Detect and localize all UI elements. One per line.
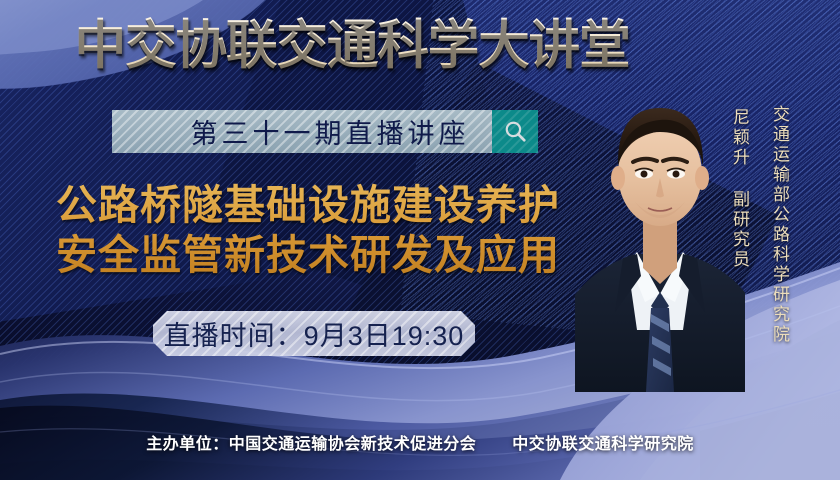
broadcast-time-label: 直播时间：9月3日19:30: [164, 314, 465, 353]
speaker-name-title: 尼颖升 副研究员: [727, 108, 752, 270]
live-stream-poster: 中交协联交通科学大讲堂 第三十一期直播讲座 公路桥隧基础设施建设养护 安全监管新…: [0, 0, 840, 480]
speaker-portrait: [575, 62, 745, 392]
episode-label: 第三十一期直播讲座: [135, 112, 470, 151]
episode-bar-body: 第三十一期直播讲座: [112, 110, 492, 153]
search-icon: [503, 119, 528, 144]
footer-organizer-label: 主办单位：中国交通运输协会新技术促进分会: [146, 436, 476, 453]
lecture-topic: 公路桥隧基础设施建设养护 安全监管新技术研发及应用: [28, 180, 588, 280]
topic-line-2: 安全监管新技术研发及应用: [28, 230, 588, 280]
footer-institute: 中交协联交通科学研究院: [512, 436, 694, 453]
speaker-organization: 交通运输部公路科学研究院: [767, 105, 792, 345]
episode-bar: 第三十一期直播讲座: [112, 110, 538, 153]
broadcast-time-badge: 直播时间：9月3日19:30: [153, 311, 475, 356]
search-button[interactable]: [492, 110, 538, 153]
footer-organizers: 主办单位：中国交通运输协会新技术促进分会 中交协联交通科学研究院: [0, 430, 840, 454]
topic-line-1: 公路桥隧基础设施建设养护: [28, 180, 588, 230]
